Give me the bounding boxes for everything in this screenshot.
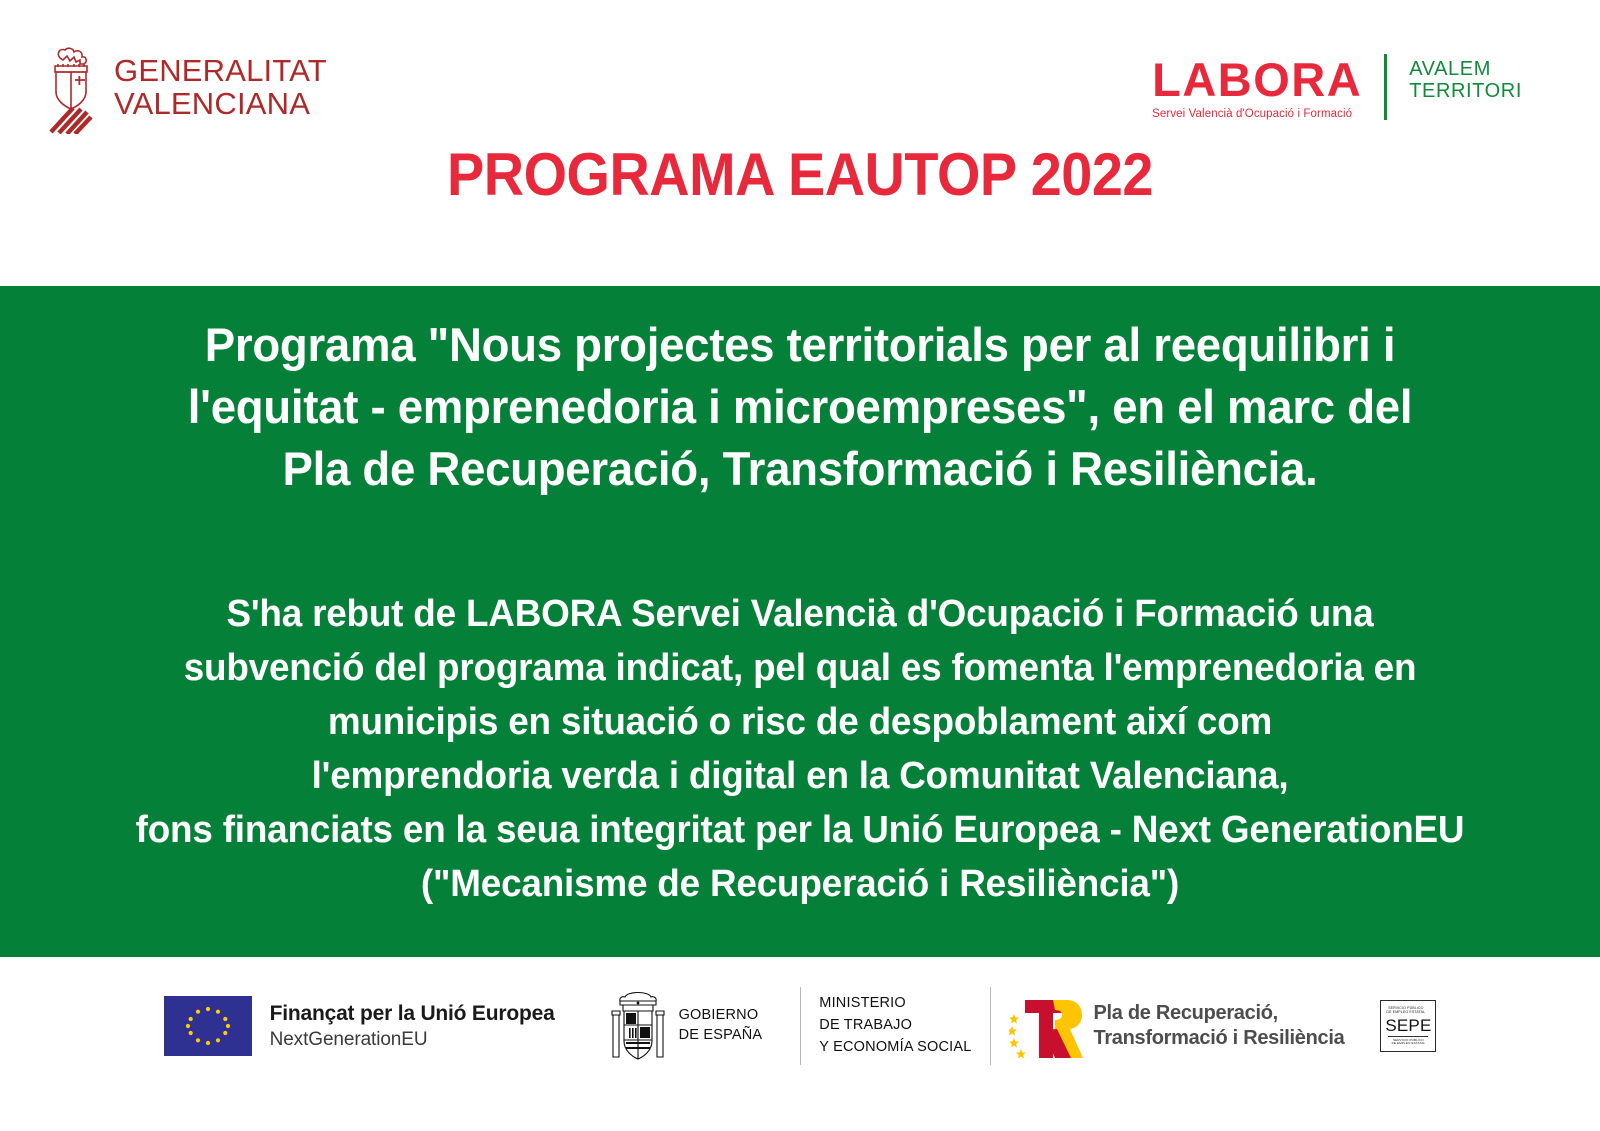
prtr-line-1: Pla de Recuperació, bbox=[1094, 1001, 1345, 1026]
prtr-logo: Pla de Recuperació, Transformació i Resi… bbox=[1009, 990, 1345, 1062]
grant-description-paragraph: S'ha rebut de LABORA Servei Valencià d'O… bbox=[38, 588, 1563, 912]
program-name-line: Programa "Nous projectes territorials pe… bbox=[38, 314, 1563, 376]
gobierno-line-1: GOBIERNO bbox=[679, 1006, 763, 1026]
grant-description-line: fons financiats en la seua integritat pe… bbox=[38, 804, 1563, 858]
poster: GENERALITAT VALENCIANA LABORA Servei Val… bbox=[0, 0, 1600, 1131]
gva-line-2: VALENCIANA bbox=[114, 88, 327, 121]
prtr-text: Pla de Recuperació, Transformació i Resi… bbox=[1094, 1001, 1345, 1051]
generalitat-valenciana-logo: GENERALITAT VALENCIANA bbox=[42, 42, 327, 134]
program-name-line: l'equitat - emprenedoria i microempreses… bbox=[38, 376, 1563, 438]
sepe-logo: SERVICIO PÚBLICO DE EMPLEO ESTATAL SEPE … bbox=[1380, 1000, 1436, 1052]
eu-funding-line-1: Finançat per la Unió Europea bbox=[270, 1002, 555, 1026]
gobierno-line-2: DE ESPAÑA bbox=[679, 1026, 763, 1046]
labora-left-block: LABORA Servei Valencià d'Ocupació i Form… bbox=[1152, 52, 1362, 120]
sepe-bottom-text: SERVICIO PÚBLICO DE EMPLEO ESTATAL bbox=[1392, 1039, 1426, 1047]
prtr-tr-monogram-icon bbox=[1009, 990, 1083, 1062]
ministerio-line-2: DE TRABAJO bbox=[819, 1015, 971, 1037]
sepe-rule bbox=[1388, 1036, 1428, 1037]
generalitat-valenciana-wordmark: GENERALITAT VALENCIANA bbox=[114, 55, 327, 121]
ministerio-text: MINISTERIO DE TRABAJO Y ECONOMÍA SOCIAL bbox=[819, 993, 971, 1058]
grant-description-line: l'emprendoria verda i digital en la Comu… bbox=[38, 750, 1563, 804]
generalitat-valenciana-crest-icon bbox=[42, 42, 100, 134]
avalem-line-1: AVALEM bbox=[1409, 58, 1522, 80]
footer: Finançat per la Unió Europea NextGenerat… bbox=[0, 957, 1600, 1131]
eu-funding-logo: Finançat per la Unió Europea NextGenerat… bbox=[164, 996, 555, 1056]
gva-line-1: GENERALITAT bbox=[114, 55, 327, 88]
grant-description-line: ("Mecanisme de Recuperació i Resiliència… bbox=[38, 858, 1563, 912]
labora-subtitle: Servei Valencià d'Ocupació i Formació bbox=[1152, 108, 1362, 120]
sepe-wordmark: SEPE bbox=[1385, 1017, 1431, 1034]
labora-logo: LABORA Servei Valencià d'Ocupació i Form… bbox=[1152, 52, 1522, 120]
sepe-top-line-2: DE EMPLEO ESTATAL bbox=[1386, 1010, 1425, 1014]
sepe-bottom-line-2: DE EMPLEO ESTATAL bbox=[1392, 1042, 1426, 1046]
eu-funding-line-2: NextGenerationEU bbox=[270, 1029, 555, 1051]
prtr-line-2: Transformació i Resiliència bbox=[1094, 1026, 1345, 1051]
sepe-top-text: SERVICIO PÚBLICO DE EMPLEO ESTATAL bbox=[1383, 1006, 1425, 1015]
grant-description-line: S'ha rebut de LABORA Servei Valencià d'O… bbox=[38, 588, 1563, 642]
ministerio-line-1: MINISTERIO bbox=[819, 993, 971, 1015]
labora-wordmark: LABORA bbox=[1152, 56, 1362, 103]
eu-funding-text: Finançat per la Unió Europea NextGenerat… bbox=[270, 1002, 555, 1051]
header: GENERALITAT VALENCIANA LABORA Servei Val… bbox=[0, 0, 1600, 286]
labora-divider bbox=[1384, 54, 1387, 120]
gobierno-de-espana-logo: GOBIERNO DE ESPAÑA bbox=[607, 985, 763, 1067]
ministerio-line-3: Y ECONOMÍA SOCIAL bbox=[819, 1037, 971, 1059]
european-union-flag-icon bbox=[164, 996, 252, 1056]
program-name-line: Pla de Recuperació, Transformació i Resi… bbox=[38, 438, 1563, 500]
green-content-band: Programa "Nous projectes territorials pe… bbox=[0, 286, 1600, 957]
spain-coat-of-arms-icon bbox=[607, 985, 669, 1067]
page-title: PROGRAMA EAUTOP 2022 bbox=[56, 140, 1544, 209]
avalem-territori-wordmark: AVALEM TERRITORI bbox=[1409, 52, 1522, 103]
avalem-line-2: TERRITORI bbox=[1409, 80, 1522, 102]
footer-divider-2 bbox=[990, 987, 991, 1065]
grant-description-line: subvenció del programa indicat, pel qual… bbox=[38, 642, 1563, 696]
program-name-paragraph: Programa "Nous projectes territorials pe… bbox=[38, 314, 1563, 500]
gobierno-text: GOBIERNO DE ESPAÑA bbox=[679, 1006, 763, 1045]
eu-stars bbox=[164, 996, 252, 1056]
grant-description-line: municipis en situació o risc de despobla… bbox=[38, 696, 1563, 750]
footer-divider-1 bbox=[800, 987, 801, 1065]
footer-logo-strip: Finançat per la Unió Europea NextGenerat… bbox=[0, 985, 1600, 1067]
